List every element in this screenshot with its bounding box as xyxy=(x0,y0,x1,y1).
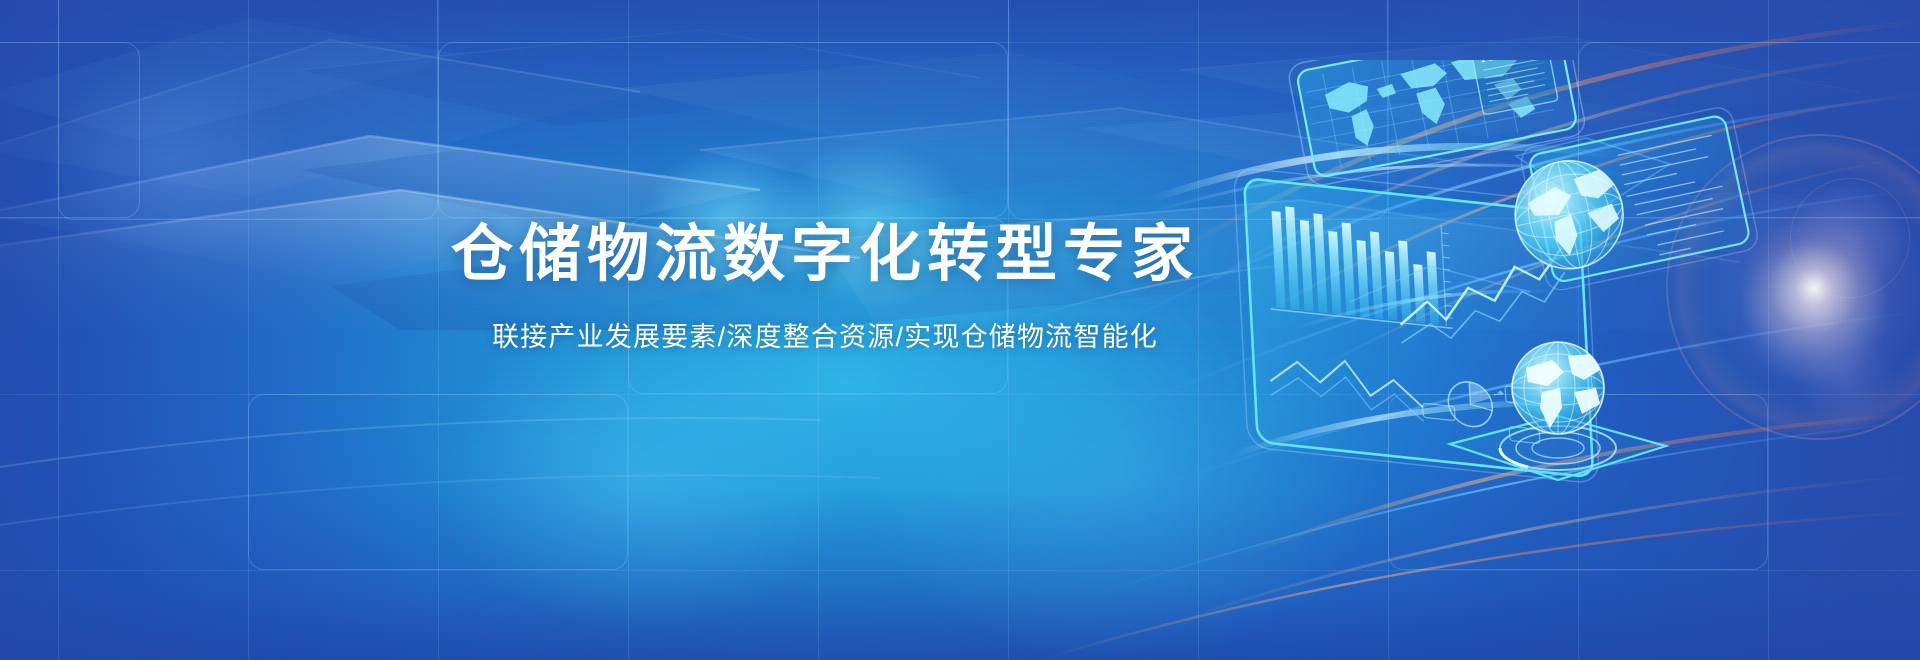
hologram-graphic: ASIA xyxy=(1230,60,1790,530)
page-title: 仓储物流数字化转型专家 xyxy=(395,222,1255,289)
hologram-svg: ASIA xyxy=(1230,60,1790,530)
globe-icon xyxy=(1512,342,1604,434)
hero-banner: ASIA xyxy=(0,0,1920,660)
page-subtitle: 联接产业发展要素/深度整合资源/实现仓储物流智能化 xyxy=(395,315,1255,354)
hero-copy: 仓储物流数字化转型专家 联接产业发展要素/深度整合资源/实现仓储物流智能化 xyxy=(395,222,1255,354)
